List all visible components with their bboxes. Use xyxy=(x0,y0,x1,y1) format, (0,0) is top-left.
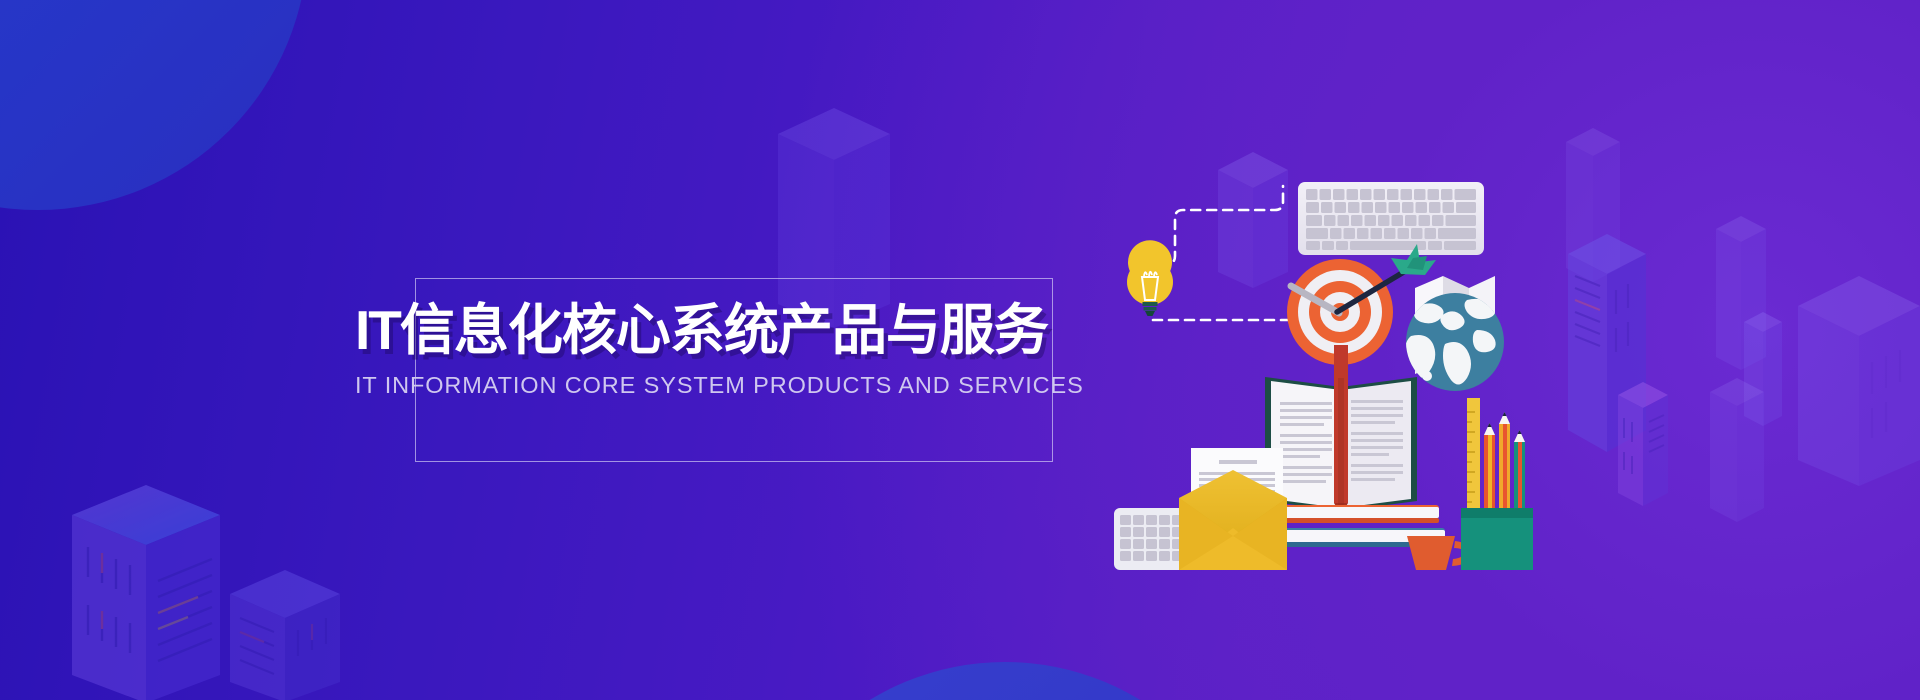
book-bookmark xyxy=(1334,345,1348,515)
headline-block: IT信息化核心系统产品与服务 IT INFORMATION CORE SYSTE… xyxy=(415,278,1053,462)
bottom-center-circle xyxy=(745,662,1265,700)
building-right-g xyxy=(1798,276,1920,486)
keyboard-top xyxy=(1298,182,1484,255)
book-stack-red xyxy=(1263,505,1439,523)
building-left-tall xyxy=(72,485,220,700)
open-book xyxy=(1265,345,1417,515)
page-subtitle: IT INFORMATION CORE SYSTEM PRODUCTS AND … xyxy=(355,372,1115,399)
page-title-rest: 信息化核心系统产品与服务 xyxy=(400,299,1048,361)
top-left-circle xyxy=(0,0,308,210)
building-left-short xyxy=(230,570,340,700)
page-title: IT信息化核心系统产品与服务 xyxy=(355,303,1115,358)
building-right-f xyxy=(1710,378,1764,522)
building-right-d xyxy=(1618,382,1668,506)
page-title-lead: IT xyxy=(355,299,400,361)
hero-banner: IT信息化核心系统产品与服务 IT INFORMATION CORE SYSTE… xyxy=(0,0,1920,700)
it-workspace-illustration xyxy=(1115,130,1535,570)
lightbulb-icon xyxy=(1127,240,1173,316)
pencil-holder xyxy=(1461,398,1533,570)
